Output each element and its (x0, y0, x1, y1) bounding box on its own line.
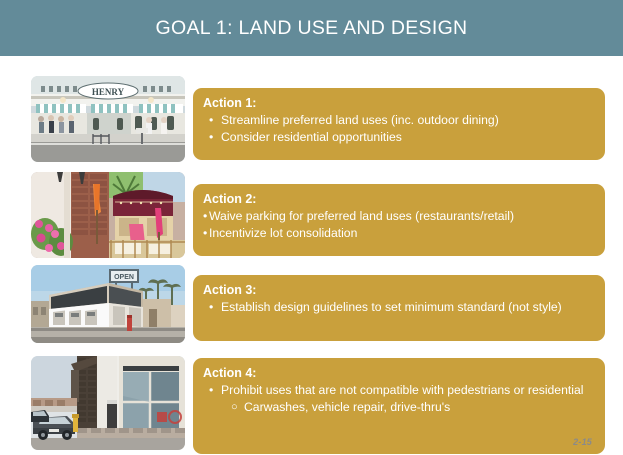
bullet-marker-icon: • (209, 112, 221, 129)
action-card-1: Action 1: • Streamline preferred land us… (193, 88, 605, 160)
photo-corner-commercial-building: OPEN (31, 265, 185, 343)
action-bullet-text: Waive parking for preferred land uses (r… (209, 208, 595, 225)
action-row-1: HENRY (0, 76, 623, 162)
action-bullet-text: Incentivize lot consolidation (209, 225, 595, 242)
page-title: GOAL 1: LAND USE AND DESIGN (0, 0, 623, 56)
action-card-2: Action 2: • Waive parking for preferred … (193, 184, 605, 256)
action-sub-bullet-text: Carwashes, vehicle repair, drive-thru's (244, 399, 595, 416)
photo-drive-thru-lane-cars-graphic (31, 356, 185, 450)
photo-drive-thru-lane-cars (31, 356, 185, 450)
photo-brick-patio-umbrellas (31, 172, 185, 258)
action-bullet-list: • Prohibit uses that are not compatible … (203, 382, 595, 415)
action-row-2: Action 2: • Waive parking for preferred … (0, 172, 623, 258)
action-bullet: • Incentivize lot consolidation (203, 225, 595, 242)
action-bullet: • Establish design guidelines to set min… (203, 299, 595, 316)
photo-henry-restaurant-storefront-graphic: HENRY (31, 76, 185, 162)
svg-text:HENRY: HENRY (92, 87, 125, 97)
action-bullet-text: Establish design guidelines to set minim… (221, 299, 595, 316)
action-row-3: OPEN (0, 265, 623, 343)
slide-canvas: GOAL 1: LAND USE AND DESIGN HENRY (0, 0, 623, 455)
page-number: 2-15 (573, 437, 592, 447)
action-card-3: Action 3: • Establish design guidelines … (193, 275, 605, 341)
action-card-4: Action 4: • Prohibit uses that are not c… (193, 358, 605, 454)
action-title: Action 4: (203, 365, 595, 381)
action-row-4: Action 4: • Prohibit uses that are not c… (0, 356, 623, 450)
svg-text:OPEN: OPEN (114, 274, 134, 281)
action-bullet: • Streamline preferred land uses (inc. o… (203, 112, 595, 129)
action-bullet: • Consider residential opportunities (203, 129, 595, 146)
action-bullet-text: Streamline preferred land uses (inc. out… (221, 112, 595, 129)
bullet-marker-icon: • (209, 382, 221, 399)
action-title: Action 2: (203, 191, 595, 207)
bullet-marker-icon: • (209, 129, 221, 146)
action-title: Action 3: (203, 282, 595, 298)
photo-corner-commercial-building-graphic: OPEN (31, 265, 185, 343)
sub-bullet-marker-icon: ○ (231, 399, 244, 416)
photo-henry-restaurant-storefront: HENRY (31, 76, 185, 162)
photo-brick-patio-umbrellas-graphic (31, 172, 185, 258)
action-bullet: • Waive parking for preferred land uses … (203, 208, 595, 225)
action-sub-bullet: ○ Carwashes, vehicle repair, drive-thru'… (203, 399, 595, 416)
action-bullet-text: Consider residential opportunities (221, 129, 595, 146)
action-bullet-list: • Establish design guidelines to set min… (203, 299, 595, 316)
slide-header-bar: GOAL 1: LAND USE AND DESIGN (0, 0, 623, 56)
action-bullet-text: Prohibit uses that are not compatible wi… (221, 382, 595, 399)
action-bullet-list: • Waive parking for preferred land uses … (203, 208, 595, 241)
action-bullet: • Prohibit uses that are not compatible … (203, 382, 595, 399)
action-title: Action 1: (203, 95, 595, 111)
bullet-marker-icon: • (209, 299, 221, 316)
action-bullet-list: • Streamline preferred land uses (inc. o… (203, 112, 595, 145)
